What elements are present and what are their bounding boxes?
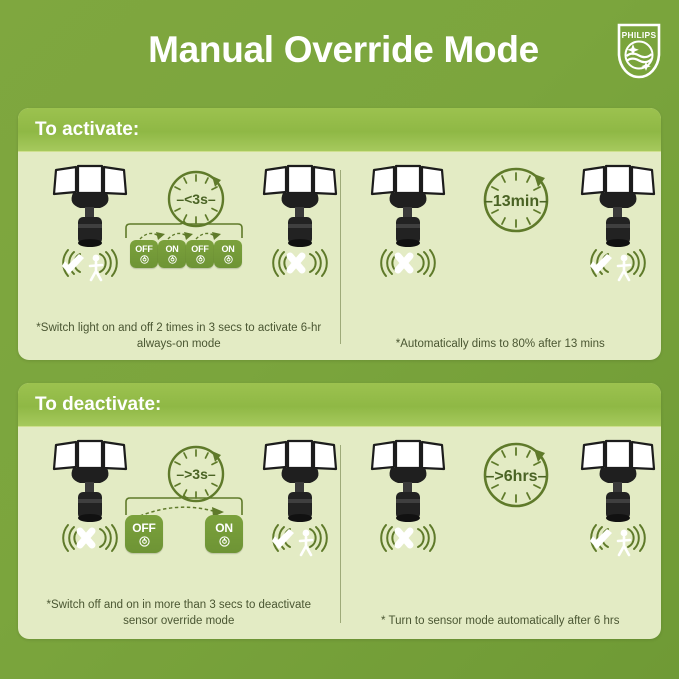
card-to-deactivate: To deactivate: (18, 383, 661, 639)
flood-light-icon (238, 158, 338, 283)
switch-label: OFF (191, 244, 208, 254)
switch-label: ON (221, 244, 234, 254)
power-icon (219, 536, 230, 547)
card-to-activate: To activate: (18, 108, 661, 360)
switch-sequence: OFF ON (124, 515, 244, 555)
panel-caption: *Switch light on and off 2 times in 3 se… (18, 320, 340, 352)
card-header-activate: To activate: (18, 108, 661, 152)
sequence-bracket-icon (124, 220, 244, 240)
power-icon (168, 255, 177, 264)
switch-label: OFF (132, 522, 155, 535)
diagram-stage: –>6hrs– (340, 427, 662, 579)
page-title: Manual Override Mode (148, 29, 539, 71)
timer-label: –<3s– (176, 191, 216, 207)
switch-off-1[interactable]: OFF (125, 515, 163, 553)
card-body-activate: –<3s– (18, 152, 661, 360)
cross-icon (398, 531, 410, 545)
panel-deactivate-left: –>3s– (18, 427, 340, 639)
card-header-label: To activate: (35, 119, 139, 141)
switch-label: ON (215, 522, 233, 535)
flood-light-icon (556, 158, 656, 283)
power-icon (139, 536, 150, 547)
flood-light-icon (556, 433, 656, 558)
flood-light-icon (346, 158, 446, 283)
person-icon (618, 255, 630, 280)
page-header: Manual Override Mode PHILIPS (0, 0, 679, 100)
panel-caption: * Turn to sensor mode automatically afte… (340, 613, 662, 629)
power-icon (140, 255, 149, 264)
switch-on-1[interactable]: ON (205, 515, 243, 553)
diagram-stage: –>3s– (18, 427, 340, 579)
cross-icon (290, 256, 302, 270)
diagram-stage: –13min– (340, 152, 662, 304)
cross-icon (80, 531, 92, 545)
philips-shield-icon: PHILIPS (616, 22, 662, 80)
power-icon (196, 255, 205, 264)
card-body-deactivate: –>3s– (18, 427, 661, 639)
switch-on-1[interactable]: ON (158, 240, 186, 268)
clock-icon: –13min– (474, 156, 558, 240)
panel-deactivate-right: –>6hrs– (340, 427, 662, 639)
panel-caption: *Automatically dims to 80% after 13 mins (340, 336, 662, 352)
sequence-bracket-icon (124, 493, 244, 517)
card-header-label: To deactivate: (35, 394, 161, 416)
timer-label: –13min– (483, 193, 547, 210)
switch-sequence: OFF ON (130, 240, 240, 272)
flood-light-icon (28, 158, 128, 283)
switch-label: ON (165, 244, 178, 254)
flood-light-icon (238, 433, 338, 558)
switch-off-1[interactable]: OFF (130, 240, 158, 268)
panel-activate-left: –<3s– (18, 152, 340, 360)
person-icon (300, 530, 312, 555)
cross-icon (398, 256, 410, 270)
switch-on-2[interactable]: ON (214, 240, 242, 268)
person-icon (90, 255, 102, 280)
diagram-stage: –<3s– (18, 152, 340, 304)
panel-activate-right: –13min– (340, 152, 662, 360)
timer-label: –>6hrs– (485, 468, 546, 485)
svg-text:PHILIPS: PHILIPS (622, 30, 657, 40)
panel-caption: *Switch off and on in more than 3 secs t… (18, 597, 340, 629)
switch-off-2[interactable]: OFF (186, 240, 214, 268)
power-icon (224, 255, 233, 264)
flood-light-icon (28, 433, 128, 558)
timer-label: –>3s– (176, 466, 216, 482)
flood-light-icon (346, 433, 446, 558)
clock-icon: –>6hrs– (474, 431, 558, 515)
dashed-arrow-icon (156, 232, 221, 240)
switch-label: OFF (135, 244, 152, 254)
person-icon (618, 530, 630, 555)
card-header-deactivate: To deactivate: (18, 383, 661, 427)
